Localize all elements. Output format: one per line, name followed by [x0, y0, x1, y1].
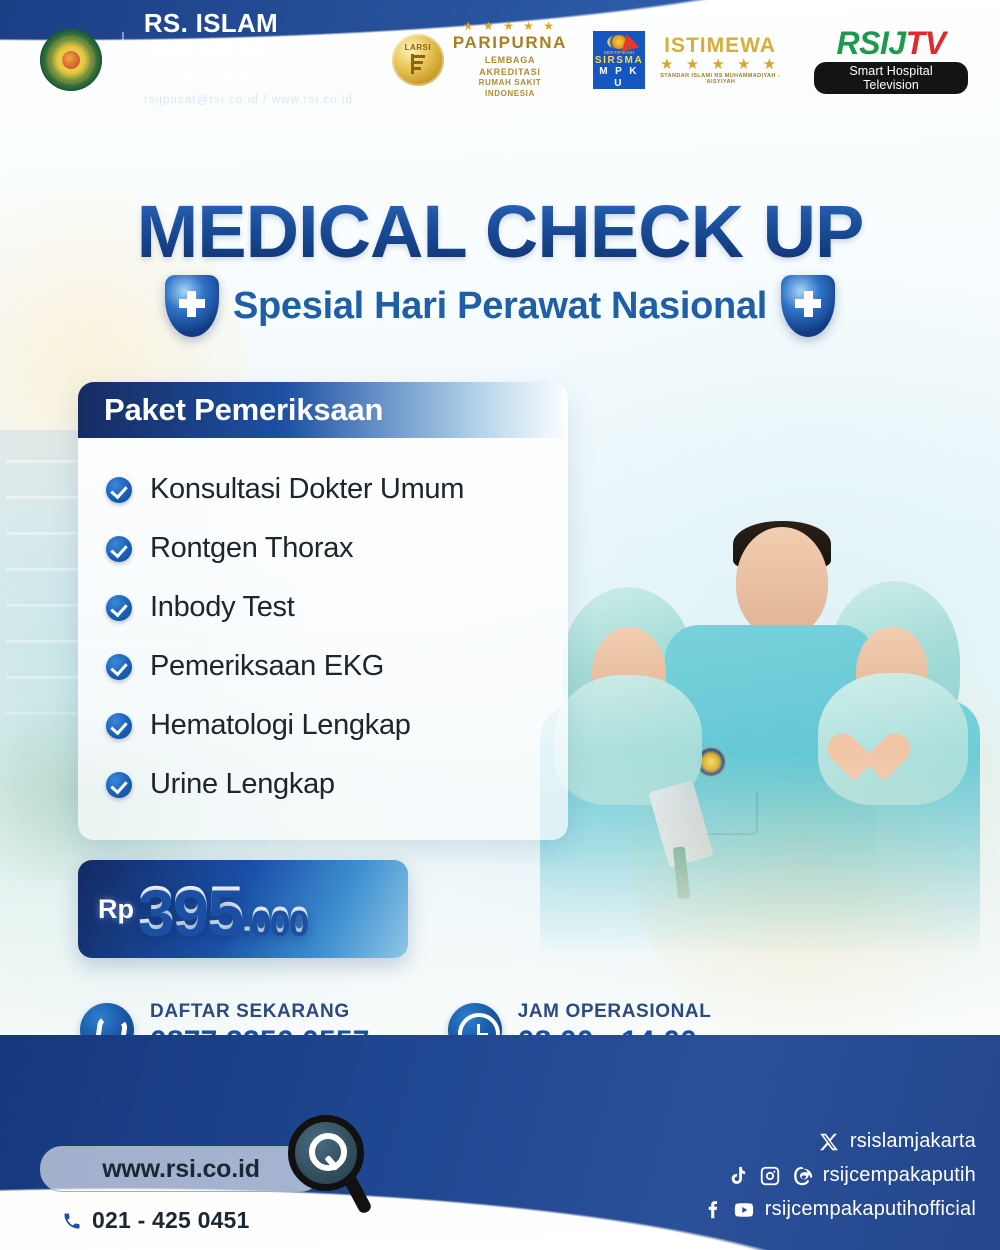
istimewa-title: ISTIMEWA — [652, 35, 788, 57]
social-row-x[interactable]: rsislamjakarta — [701, 1130, 976, 1153]
contact-label: DAFTAR SEKARANG — [150, 1000, 370, 1024]
list-item: Hematologi Lengkap — [78, 696, 568, 755]
shield-cross-icon-right — [781, 275, 835, 337]
check-circle-icon — [106, 536, 132, 562]
accreditation-badges: LARSI ★ ★ ★ ★ ★ PARIPURNA LEMBAGA AKREDI… — [392, 20, 968, 99]
larsi-coin-label: LARSI — [405, 43, 432, 52]
istimewa-subtitle: STANDAR ISLAMI RS MUHAMMADIYAH - 'AISYIY… — [652, 73, 788, 85]
sirsma-logo-icon: SERTIFIKASI SIRSMA M P K U — [593, 31, 645, 89]
package-list: Konsultasi Dokter Umum Rontgen Thorax In… — [78, 438, 568, 840]
threads-icon[interactable] — [791, 1165, 813, 1187]
social-handle: rsislamjakarta — [850, 1130, 976, 1153]
package-item-label: Konsultasi Dokter Umum — [150, 473, 464, 506]
larsi-medallion-icon: LARSI — [392, 34, 444, 86]
hospital-contact: rsijpusat@rsi.co.id / www.rsi.co.id — [144, 92, 392, 109]
hospital-branch: CEMPAKA PUTIH — [144, 65, 392, 93]
badge-sirsma: SERTIFIKASI SIRSMA M P K U ISTIMEWA ★ ★ … — [593, 31, 788, 89]
list-item: Rontgen Thorax — [78, 519, 568, 578]
telephone-line[interactable]: 021 - 425 0451 — [62, 1207, 250, 1234]
rsijtv-part1: RSIJ — [837, 25, 906, 61]
x-icon[interactable] — [818, 1131, 840, 1153]
nurses-photo — [540, 395, 980, 955]
sirsma-box-mid: SIRSMA — [595, 55, 644, 66]
telephone-number: 021 - 425 0451 — [92, 1207, 250, 1234]
page-title: MEDICAL CHECK UP — [0, 195, 1000, 269]
package-card-header: Paket Pemeriksaan — [78, 382, 568, 438]
paripurna-title: PARIPURNA — [453, 32, 567, 53]
package-card: Paket Pemeriksaan Konsultasi Dokter Umum… — [78, 382, 568, 840]
badge-rsijtv: RSIJTV Smart Hospital Television — [814, 27, 968, 94]
check-circle-icon — [106, 477, 132, 503]
facebook-icon[interactable] — [701, 1199, 723, 1221]
package-item-label: Inbody Test — [150, 591, 295, 624]
list-item: Konsultasi Dokter Umum — [78, 460, 568, 519]
list-item: Urine Lengkap — [78, 755, 568, 814]
paripurna-line3: RUMAH SAKIT INDONESIA — [453, 78, 567, 100]
social-handle: rsijcempakaputihofficial — [765, 1198, 976, 1221]
social-links: rsislamjakarta rsijcempakaputih rsijcemp… — [701, 1130, 976, 1232]
social-row-facebook-youtube[interactable]: rsijcempakaputihofficial — [701, 1198, 976, 1221]
tiktok-icon[interactable] — [727, 1165, 749, 1187]
sirsma-box-bottom: M P K U — [593, 66, 645, 89]
price-value: 395 — [138, 872, 242, 946]
poster-root: RS. ISLAM JAKARTA CEMPAKA PUTIH rsijpusa… — [0, 0, 1000, 1250]
price-amount: 395.000 — [138, 876, 308, 942]
shield-cross-icon-left — [165, 275, 219, 337]
hospital-name-block: RS. ISLAM JAKARTA CEMPAKA PUTIH rsijpusa… — [144, 10, 392, 109]
package-item-label: Pemeriksaan EKG — [150, 650, 384, 683]
hours-label: JAM OPERASIONAL — [518, 1000, 749, 1024]
youtube-icon[interactable] — [733, 1199, 755, 1221]
website-pill[interactable]: www.rsi.co.id — [40, 1146, 322, 1192]
price-decimals: .000 — [242, 899, 308, 940]
social-row-tiktok-instagram-threads[interactable]: rsijcempakaputih — [701, 1164, 976, 1187]
social-handle: rsijcempakaputih — [823, 1164, 976, 1187]
paripurna-line2: LEMBAGA AKREDITASI — [453, 54, 567, 78]
price-banner: Rp 395.000 — [78, 860, 408, 958]
package-item-label: Rontgen Thorax — [150, 532, 353, 565]
page-subtitle: Spesial Hari Perawat Nasional — [233, 285, 767, 328]
rsijtv-tagline: Smart Hospital Television — [814, 62, 968, 94]
rsijtv-part2: TV — [906, 25, 946, 61]
list-item: Inbody Test — [78, 578, 568, 637]
hero-section: MEDICAL CHECK UP Spesial Hari Perawat Na… — [0, 195, 1000, 337]
website-url: www.rsi.co.id — [102, 1155, 260, 1184]
phone-small-icon — [62, 1211, 82, 1231]
magnifier-icon — [288, 1115, 368, 1225]
paripurna-stars: ★ ★ ★ ★ ★ — [453, 20, 567, 32]
logo-divider — [122, 32, 124, 88]
sirsma-bolt-icon — [622, 34, 642, 56]
price-currency: Rp — [98, 894, 134, 925]
heart-hands-gesture — [826, 735, 884, 787]
hospital-name: RS. ISLAM JAKARTA — [144, 10, 392, 65]
header-row: RS. ISLAM JAKARTA CEMPAKA PUTIH rsijpusa… — [0, 0, 1000, 120]
check-circle-icon — [106, 654, 132, 680]
check-circle-icon — [106, 713, 132, 739]
badge-paripurna: LARSI ★ ★ ★ ★ ★ PARIPURNA LEMBAGA AKREDI… — [392, 20, 567, 99]
instagram-icon[interactable] — [759, 1165, 781, 1187]
list-item: Pemeriksaan EKG — [78, 637, 568, 696]
hospital-logo-block: RS. ISLAM JAKARTA CEMPAKA PUTIH rsijpusa… — [40, 10, 392, 109]
muhammadiyah-sun-logo-icon — [40, 29, 102, 91]
check-circle-icon — [106, 772, 132, 798]
package-item-label: Urine Lengkap — [150, 768, 335, 801]
package-item-label: Hematologi Lengkap — [150, 709, 411, 742]
check-circle-icon — [106, 595, 132, 621]
istimewa-stars: ★ ★ ★ ★ ★ — [652, 57, 788, 74]
package-heading: Paket Pemeriksaan — [104, 392, 383, 428]
